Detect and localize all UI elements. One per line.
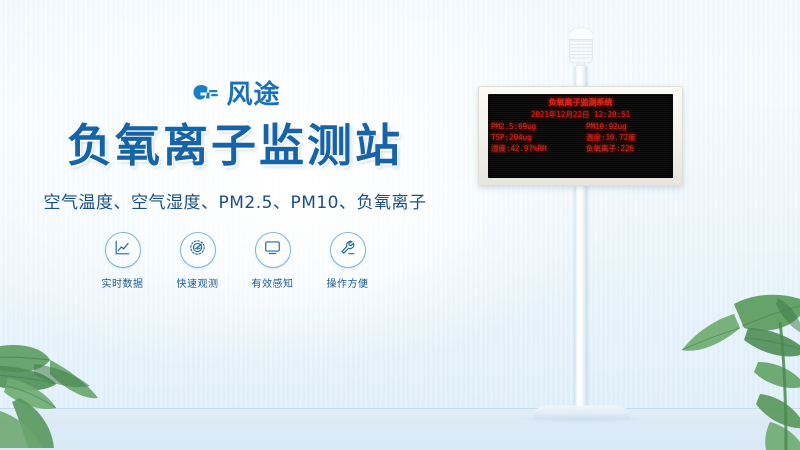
page-title: 负氧离子监测站 (0, 121, 470, 171)
feature-list: 实时数据 快速观测 (0, 232, 470, 290)
feature-item-easy-operation[interactable]: 操作方便 (322, 232, 374, 290)
feature-item-realtime-data[interactable]: 实时数据 (97, 232, 149, 290)
led-reading-pm10: PM10:92ug (582, 122, 673, 132)
wrench-icon (338, 238, 357, 262)
feature-icon-circle (105, 232, 141, 268)
fengtu-g-logo-icon (189, 82, 219, 108)
radar-observation-icon (188, 238, 207, 262)
mounting-pole (575, 66, 587, 411)
line-chart-icon (113, 238, 132, 262)
feature-label: 实时数据 (97, 275, 149, 290)
feature-icon-circle (330, 232, 366, 268)
feature-item-fast-observation[interactable]: 快速观测 (172, 232, 224, 290)
brand-name: 风途 (226, 82, 280, 108)
feature-icon-circle (255, 232, 291, 268)
led-datetime: 2021年12月22日 12:20:51 (488, 109, 673, 120)
feature-label: 操作方便 (322, 275, 374, 290)
brand-lockup: 风途 (0, 78, 470, 112)
radiation-shield-sensor-icon (564, 26, 598, 70)
feature-icon-circle (180, 232, 216, 268)
ground-plane (0, 408, 800, 450)
led-title: 负氧离子监测系统 (488, 97, 673, 108)
led-reading-anion: 负氧离子:226 (582, 144, 673, 154)
led-reading-pm25: PM2.5:69ug (491, 122, 582, 132)
feature-label: 快速观测 (172, 275, 224, 290)
hero-text-panel: 风途 负氧离子监测站 空气温度、空气湿度、PM2.5、PM10、负氧离子 (0, 78, 470, 290)
promo-banner: 风途 负氧离子监测站 空气温度、空气湿度、PM2.5、PM10、负氧离子 (0, 0, 800, 450)
feature-label: 有效感知 (247, 275, 299, 290)
hero-subtitle: 空气温度、空气湿度、PM2.5、PM10、负氧离子 (0, 188, 470, 213)
led-reading-humidity: 湿度:42.97%RH (491, 144, 582, 154)
led-display-panel: 负氧离子监测系统 2021年12月22日 12:20:51 PM2.5:69ug… (478, 86, 683, 186)
feature-item-effective-sensing[interactable]: 有效感知 (247, 232, 299, 290)
led-readings-grid: PM2.5:69ug PM10:92ug TSP:204ug 温度:10.72度… (488, 122, 673, 154)
led-screen: 负氧离子监测系统 2021年12月22日 12:20:51 PM2.5:69ug… (488, 94, 673, 178)
monitor-icon (263, 238, 282, 262)
led-reading-tsp: TSP:204ug (491, 133, 582, 143)
led-reading-temp: 温度:10.72度 (582, 133, 673, 143)
